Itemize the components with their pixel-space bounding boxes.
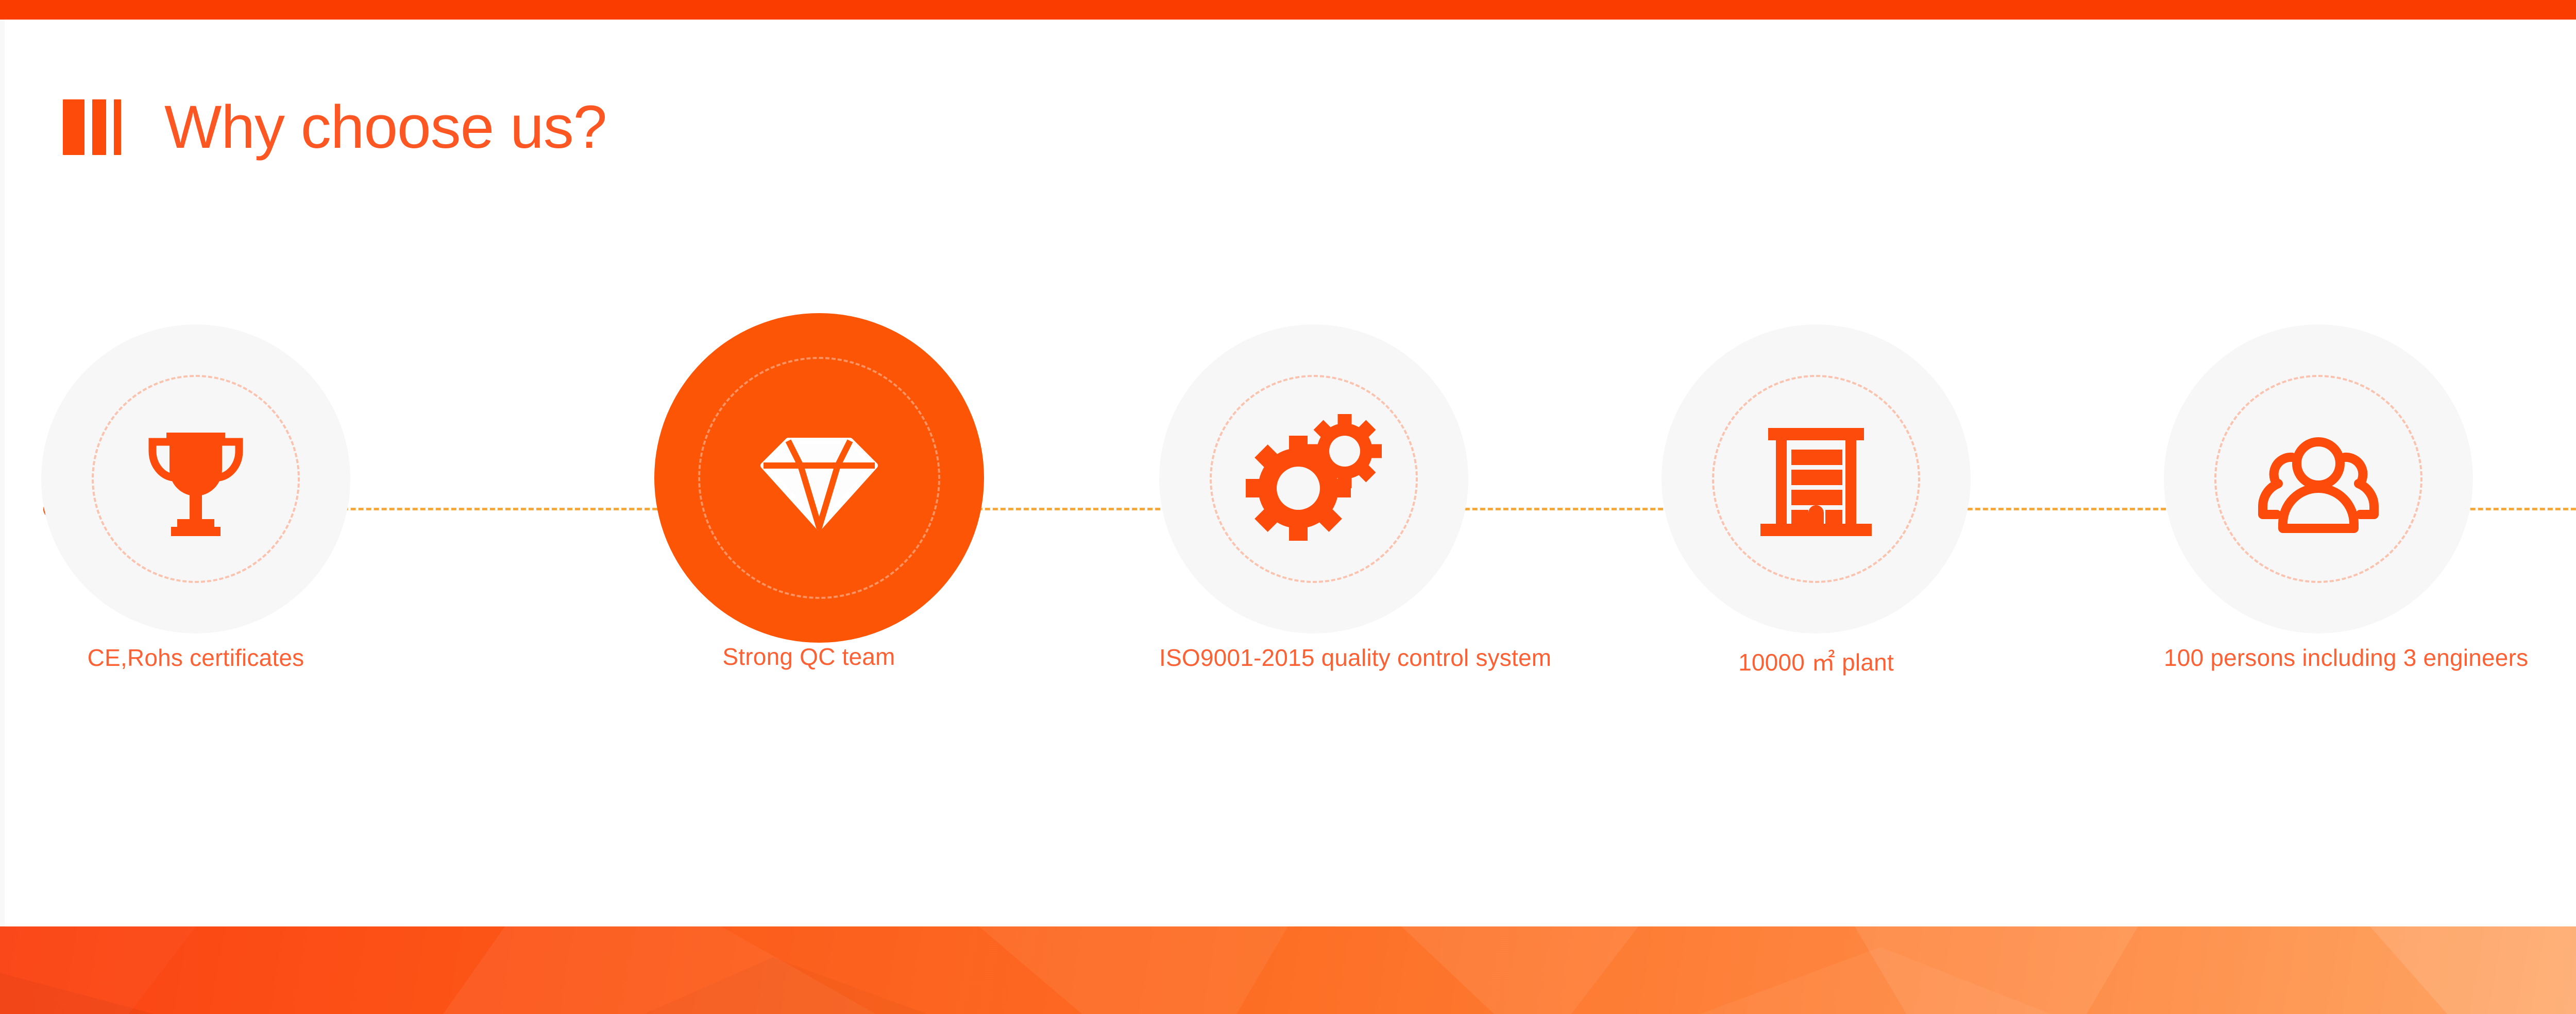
trophy-icon	[118, 402, 273, 556]
timeline-item-certificates[interactable]: CE,Rohs certificates	[41, 324, 350, 672]
item-label: Strong QC team	[654, 643, 963, 671]
gears-icon	[1236, 402, 1391, 556]
item-label: 10000 ㎡ plant	[1662, 644, 1971, 678]
slide-canvas: Why choose us?	[0, 0, 2576, 1014]
timeline-item-iso-system[interactable]: ISO9001-2015 quality control system	[1159, 324, 1468, 672]
item-label: CE,Rohs certificates	[41, 644, 350, 672]
item-circle-active	[654, 313, 984, 643]
people-group-icon	[2241, 402, 2396, 556]
item-circle	[1662, 324, 1971, 633]
low-poly-pattern	[0, 926, 2576, 1014]
item-circle	[41, 324, 350, 633]
timeline-items: CE,Rohs certificates Strong QC team	[0, 0, 2576, 494]
building-icon	[1739, 402, 1893, 556]
item-label: 100 persons including 3 engineers	[2164, 644, 2473, 672]
timeline-item-qc-team[interactable]: Strong QC team	[654, 324, 963, 671]
bottom-accent-band	[0, 926, 2576, 1014]
item-circle	[1159, 324, 1468, 633]
timeline-item-staff[interactable]: 100 persons including 3 engineers	[2164, 324, 2473, 672]
diamond-icon	[742, 401, 896, 555]
item-label: ISO9001-2015 quality control system	[1159, 644, 1468, 672]
timeline-item-plant-area[interactable]: 10000 ㎡ plant	[1662, 324, 1971, 678]
item-circle	[2164, 324, 2473, 633]
